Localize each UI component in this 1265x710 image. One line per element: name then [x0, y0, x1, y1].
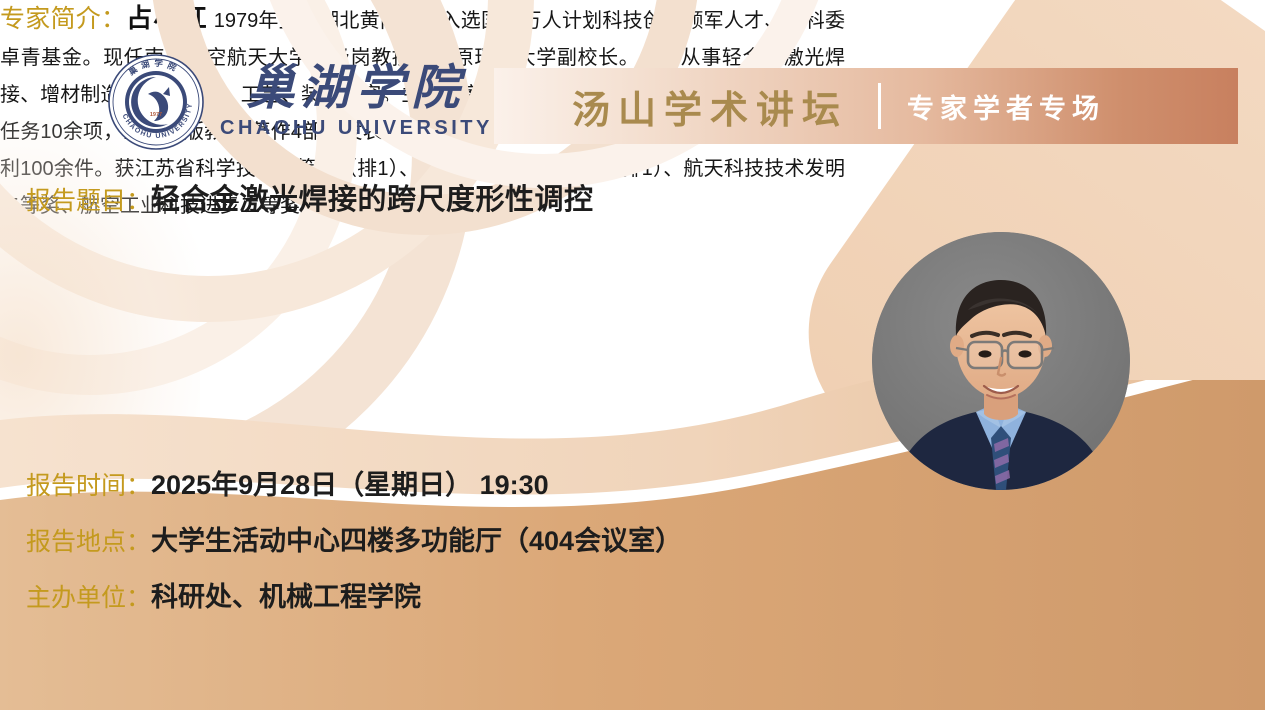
forum-banner: 汤山学术讲坛 专家学者专场: [494, 68, 1238, 144]
speaker-portrait: [872, 232, 1130, 490]
report-place-label: 报告地点：: [26, 522, 151, 558]
logo-wordmark-cn: 巢湖学院: [246, 64, 466, 114]
report-host-label: 主办单位：: [26, 578, 151, 614]
report-host-value: 科研处、机械工程学院: [151, 575, 421, 614]
report-place-row: 报告地点： 大学生活动中心四楼多功能厅（404会议室）: [26, 519, 682, 558]
report-place-value: 大学生活动中心四楼多功能厅（404会议室）: [151, 519, 682, 558]
logo-wordmark: 巢湖学院 CHAOHU UNIVERSITY: [220, 64, 493, 139]
university-logo: 1977 巢 湖 学 院 CHAOHU UNIVERSITY 巢湖学院 CHAO…: [106, 52, 493, 152]
report-title-value: 轻合金激光焊接的跨尺度形性调控: [151, 176, 594, 218]
report-title-label: 报告题目：: [26, 181, 151, 217]
chaohu-university-emblem-icon: 1977 巢 湖 学 院 CHAOHU UNIVERSITY: [106, 52, 206, 152]
emblem-year: 1977: [150, 112, 162, 118]
report-host-row: 主办单位： 科研处、机械工程学院: [26, 575, 421, 614]
speaker-bio-label: 专家简介：: [0, 5, 126, 33]
report-time-value: 2025年9月28日（星期日） 19:30: [151, 463, 549, 502]
banner-subtitle: 专家学者专场: [907, 87, 1105, 126]
poster-root: 1977 巢 湖 学 院 CHAOHU UNIVERSITY 巢湖学院 CHAO…: [0, 0, 1265, 710]
report-time-row: 报告时间： 2025年9月28日（星期日） 19:30: [26, 463, 549, 502]
banner-main-title: 汤山学术讲坛: [572, 79, 848, 134]
speaker-portrait-image: [872, 232, 1130, 490]
banner-divider: [878, 83, 881, 129]
report-time-label: 报告时间：: [26, 466, 151, 502]
report-title-row: 报告题目： 轻合金激光焊接的跨尺度形性调控: [26, 176, 594, 218]
logo-wordmark-en: CHAOHU UNIVERSITY: [220, 117, 493, 140]
speaker-name: 占小红: [126, 3, 208, 33]
